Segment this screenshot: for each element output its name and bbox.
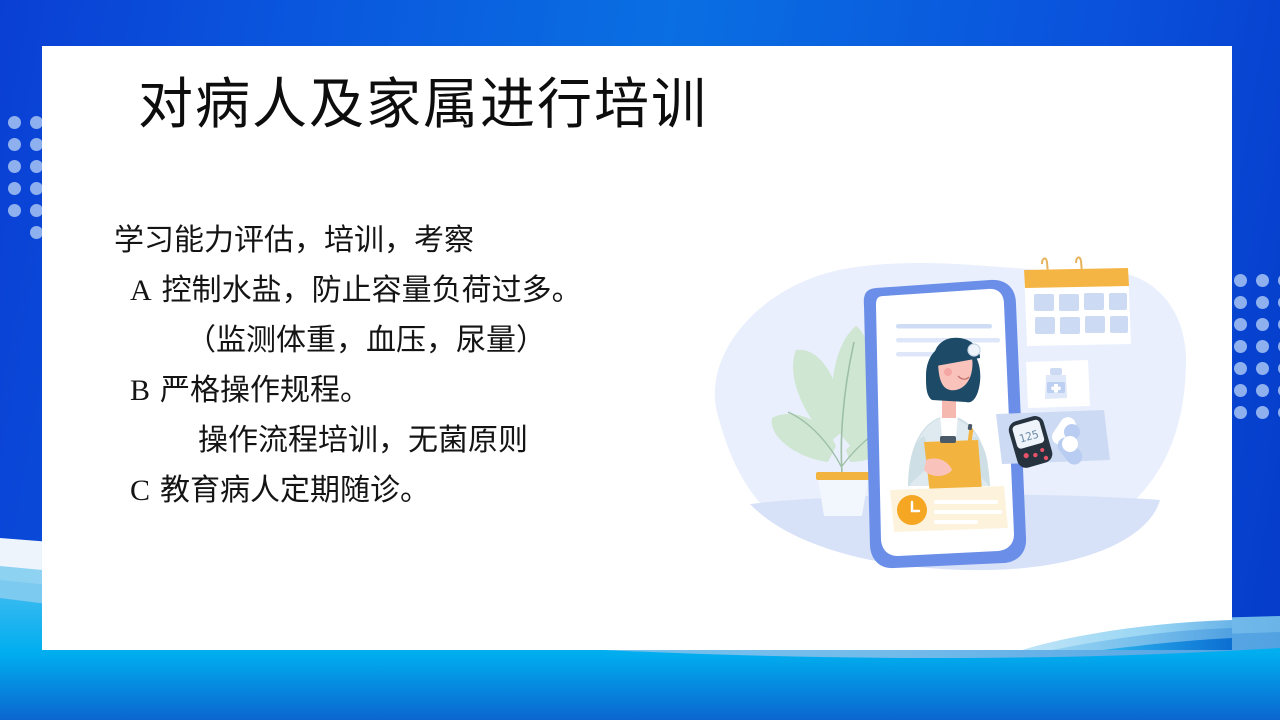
body-line-sub-b: 操作流程培训，无菌原则: [198, 416, 712, 466]
item-text-c: 教育病人定期随诊。: [160, 474, 430, 507]
pot-body: [818, 480, 868, 516]
dot: [1234, 296, 1247, 309]
item-marker-a: A: [130, 274, 152, 307]
item-marker-c: C: [130, 474, 150, 507]
dot: [1234, 362, 1247, 375]
wall-calendar: [1024, 257, 1131, 346]
dot-blank: [8, 226, 21, 239]
dot: [1256, 318, 1269, 331]
slide-content-card: 对病人及家属进行培训 学习能力评估，培训，考察 A控制水盐，防止容量负荷过多。 …: [42, 46, 1232, 650]
info-line: [934, 500, 998, 504]
dot: [8, 160, 21, 173]
dot: [1234, 340, 1247, 353]
body-line-item-a: A控制水盐，防止容量负荷过多。: [130, 266, 712, 316]
bottle-cap: [1050, 368, 1062, 375]
dot: [1256, 406, 1269, 419]
dot: [8, 116, 21, 129]
dot: [1256, 274, 1269, 287]
telemedicine-doctor-illustration: 125: [690, 246, 1190, 576]
body-line-item-b: B严格操作规程。: [130, 366, 712, 416]
slide-canvas: 对病人及家属进行培训 学习能力评估，培训，考察 A控制水盐，防止容量负荷过多。 …: [0, 0, 1280, 720]
sub-text-a: （监测体重，血压，尿量）: [186, 324, 546, 357]
card-wave-mid: [1052, 628, 1232, 650]
clipboard-clip: [940, 436, 956, 443]
item-text-b: 严格操作规程。: [160, 374, 370, 407]
dot: [8, 204, 21, 217]
head-mirror: [968, 344, 980, 356]
item-text-a: 控制水盐，防止容量负荷过多。: [162, 274, 582, 307]
dot: [8, 138, 21, 151]
card-wave-cyan: [1102, 638, 1232, 650]
info-line: [934, 510, 1002, 514]
info-line: [934, 520, 978, 524]
body-line-item-c: C教育病人定期随诊。: [130, 466, 712, 516]
pot-rim: [816, 472, 870, 480]
medicine-bottle-card: [1026, 360, 1090, 408]
dot: [1234, 384, 1247, 397]
dot: [1234, 318, 1247, 331]
dot: [1256, 384, 1269, 397]
calendar-header: [1024, 268, 1129, 288]
dot: [1256, 296, 1269, 309]
dot: [1234, 406, 1247, 419]
dot-pattern-right: [1234, 274, 1280, 419]
blood-drop: [1044, 456, 1048, 460]
dot: [1256, 362, 1269, 375]
body-line-sub-a: （监测体重，血压，尿量）: [186, 316, 712, 366]
body-line-intro: 学习能力评估，培训，考察: [114, 216, 712, 266]
dot: [1234, 274, 1247, 287]
dot: [1256, 340, 1269, 353]
body-text-block: 学习能力评估，培训，考察 A控制水盐，防止容量负荷过多。 （监测体重，血压，尿量…: [112, 216, 712, 516]
sub-text-b: 操作流程培训，无菌原则: [198, 424, 528, 457]
card-wave-pale: [1022, 620, 1232, 650]
page-title: 对病人及家属进行培训: [138, 72, 708, 138]
doctor-cheek: [944, 368, 952, 376]
item-marker-b: B: [130, 374, 150, 407]
dot: [8, 182, 21, 195]
screen-info-card: [890, 486, 1008, 532]
